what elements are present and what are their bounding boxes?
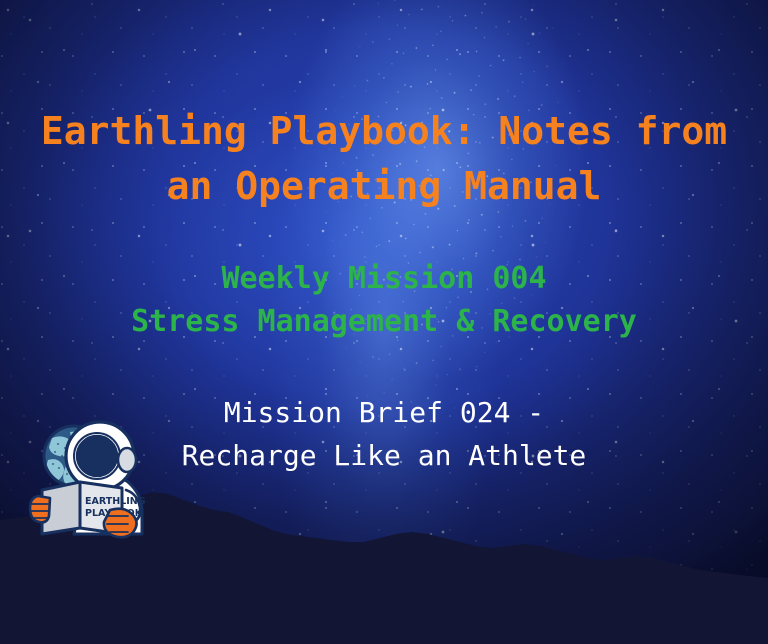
slide-canvas: Earthling Playbook: Notes from an Operat… [0,0,768,644]
mission-subtitle: Weekly Mission 004 Stress Management & R… [0,258,768,343]
astronaut-helmet [66,422,136,490]
astronaut-logo: EARTHLING PLAYBOOK [22,404,170,552]
page-title: Earthling Playbook: Notes from an Operat… [0,104,768,214]
book-title-line-1: EARTHLING [85,496,146,507]
